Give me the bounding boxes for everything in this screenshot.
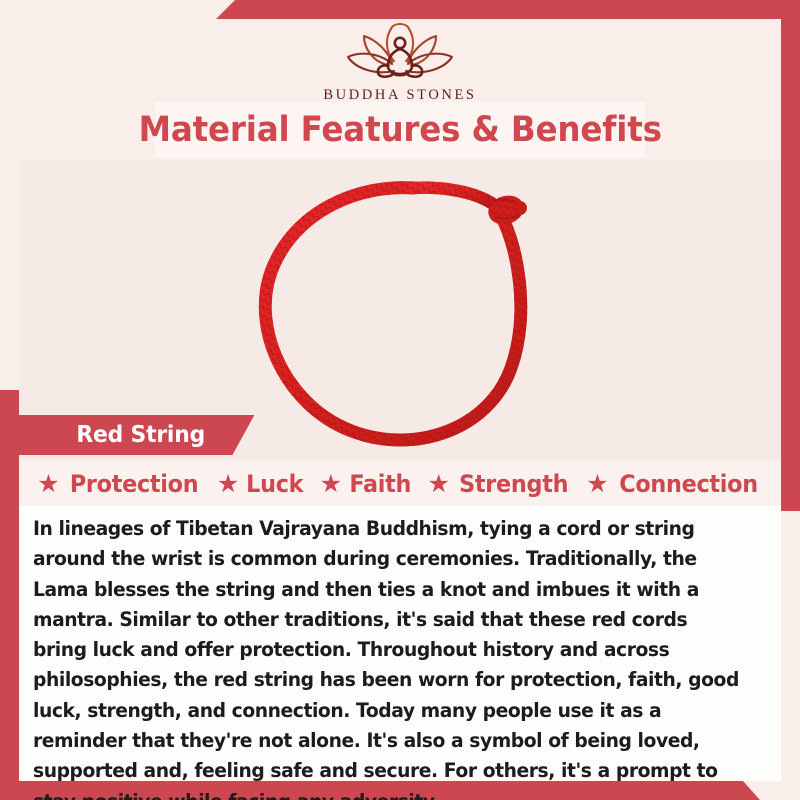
description-body: In lineages of Tibetan Vajrayana Buddhis…	[33, 514, 739, 800]
benefit-item-protection: ★ Protection	[37, 470, 203, 498]
page-title: Material Features & Benefits	[155, 102, 645, 158]
benefit-label: Connection	[619, 470, 758, 498]
star-icon: ★	[217, 472, 239, 497]
star-icon: ★	[37, 472, 59, 497]
benefit-label: Faith	[349, 470, 411, 498]
star-icon: ★	[320, 472, 342, 497]
product-name-banner: Red String	[19, 415, 254, 455]
page-title-text: Material Features & Benefits	[138, 110, 661, 150]
lotus-meditating-figure-icon	[332, 21, 468, 83]
benefit-item-faith: ★ Faith	[320, 470, 414, 498]
benefit-label: Luck	[246, 470, 303, 498]
infographic-page: BUDDHA STONES Material Features & Benefi…	[0, 0, 800, 800]
benefit-item-luck: ★ Luck	[217, 470, 306, 498]
description-panel: In lineages of Tibetan Vajrayana Buddhis…	[19, 506, 781, 781]
star-icon: ★	[428, 472, 450, 497]
decor-left-strip	[0, 390, 19, 800]
benefits-list: ★ Protection ★ Luck ★ Faith ★ Strength ★…	[19, 462, 781, 506]
benefit-item-strength: ★ Strength	[428, 470, 573, 498]
benefit-label: Strength	[459, 470, 568, 498]
decor-top-band	[0, 0, 800, 19]
brand-logo: BUDDHA STONES	[0, 21, 800, 104]
benefit-label: Protection	[70, 470, 198, 498]
star-icon: ★	[586, 472, 608, 497]
product-name-text: Red String	[76, 422, 205, 448]
benefit-item-connection: ★ Connection	[586, 470, 762, 498]
red-string-bracelet-image	[231, 168, 571, 458]
